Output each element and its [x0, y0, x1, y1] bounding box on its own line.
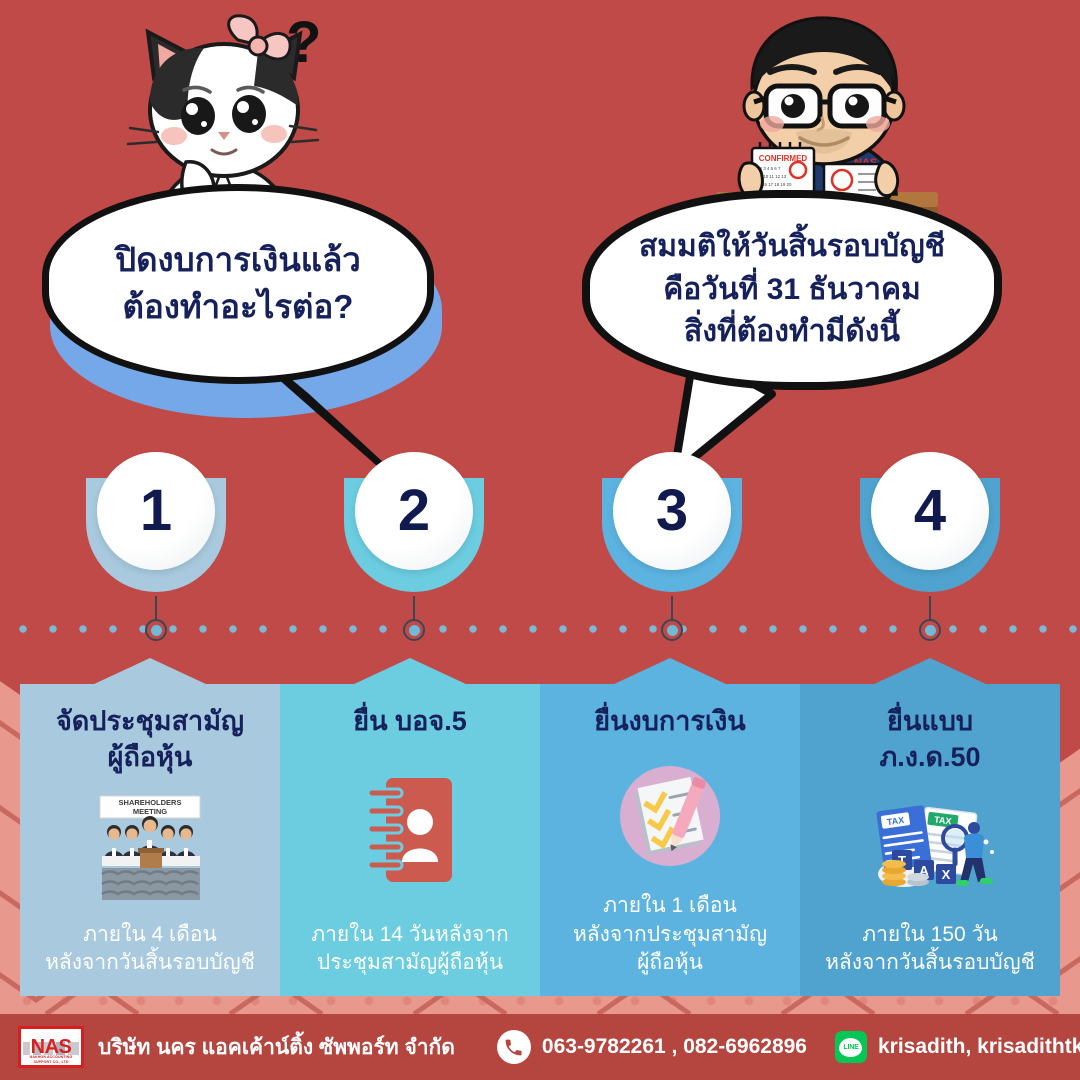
step-3-number: 3 — [656, 482, 688, 540]
shareholder-register-book-icon — [360, 774, 460, 886]
svg-text:MEETING: MEETING — [133, 807, 167, 816]
step-card-4-peak — [872, 658, 988, 685]
line-icon-label: LINE — [843, 1044, 858, 1051]
step-card-3-note: ภายใน 1 เดือน หลังจากประชุมสามัญ ผู้ถือห… — [573, 892, 767, 978]
step-4-number: 4 — [914, 482, 946, 540]
step-card-2-peak — [352, 658, 468, 685]
step-card-1-title: จัดประชุมสามัญ ผู้ถือหุ้น — [56, 704, 244, 775]
step-card-2-note: ภายใน 14 วันหลังจาก ประชุมสามัญผู้ถือหุ้… — [311, 921, 509, 978]
step-card-4-note-line1: ภายใน 150 วัน — [862, 923, 997, 946]
step-card-1[interactable]: จัดประชุมสามัญ ผู้ถือหุ้น SHAREHOLDERS M… — [20, 684, 280, 996]
timeline-node-2[interactable] — [403, 619, 425, 641]
timeline-node-3-dot — [667, 625, 678, 636]
bubble-left-line1: ปิดงบการเงินแล้ว — [115, 237, 361, 284]
step-4-ball: 4 — [871, 452, 989, 570]
step-card-2-note-line2: ประชุมสามัญผู้ถือหุ้น — [317, 951, 503, 974]
step-card-3-peak — [612, 658, 728, 685]
speech-bubble-right-body: สมมติให้วันสิ้นรอบบัญชี คือวันที่ 31 ธัน… — [582, 190, 1002, 390]
step-1-number: 1 — [140, 482, 172, 540]
step-card-4-title-line2: ภ.ง.ด.50 — [879, 742, 980, 772]
footer-contact-bar: NAS NAKHON ACCOUNTING SUPPORT CO., LTD บ… — [0, 1014, 1080, 1080]
checklist-clipboard-pencil-icon — [618, 764, 722, 868]
timeline-node-3[interactable] — [661, 619, 683, 641]
step-card-3-title-line1: ยื่นงบการเงิน — [594, 706, 745, 736]
line-icon: LINE — [835, 1031, 867, 1063]
step-card-3-note-line1: ภายใน 1 เดือน — [603, 894, 737, 917]
step-card-1-note-line1: ภายใน 4 เดือน — [83, 923, 217, 946]
nas-logo-word: NAS — [31, 1037, 72, 1057]
phone-icon — [497, 1030, 531, 1064]
step-card-1-title-line2: ผู้ถือหุ้น — [108, 742, 193, 772]
svg-text:SHAREHOLDERS: SHAREHOLDERS — [119, 798, 182, 807]
timeline-node-1-dot — [151, 625, 162, 636]
phone-number[interactable]: 063-9782261 , 082-6962896 — [542, 1035, 807, 1059]
step-card-1-title-line1: จัดประชุมสามัญ — [56, 706, 244, 736]
step-card-4-title-line1: ยื่นแบบ — [887, 706, 973, 736]
step-card-1-note: ภายใน 4 เดือน หลังจากวันสิ้นรอบบัญชี — [45, 921, 255, 978]
shareholders-meeting-icon: SHAREHOLDERS MEETING — [84, 794, 216, 902]
infographic-poster: ? NAS — [0, 0, 1080, 1080]
speech-bubble-left-body: ปิดงบการเงินแล้ว ต้องทำอะไรต่อ? — [42, 184, 434, 384]
nas-logo: NAS NAKHON ACCOUNTING SUPPORT CO., LTD — [18, 1026, 84, 1068]
nas-logo-subtitle: NAKHON ACCOUNTING SUPPORT CO., LTD — [21, 1055, 81, 1065]
step-card-1-icon-wrap: SHAREHOLDERS MEETING — [28, 775, 272, 921]
step-card-2-title-line1: ยื่น บอจ.5 — [353, 706, 466, 736]
timeline-node-1[interactable] — [145, 619, 167, 641]
step-card-4-title: ยื่นแบบ ภ.ง.ด.50 — [879, 704, 980, 775]
step-card-2-icon-wrap — [288, 740, 532, 921]
step-card-4-note: ภายใน 150 วัน หลังจากวันสิ้นรอบบัญชี — [825, 921, 1035, 978]
step-card-1-note-line2: หลังจากวันสิ้นรอบบัญชี — [45, 951, 255, 974]
speech-bubble-right: สมมติให้วันสิ้นรอบบัญชี คือวันที่ 31 ธัน… — [582, 190, 1002, 390]
timeline-node-2-dot — [409, 625, 420, 636]
timeline-track — [0, 620, 1080, 638]
step-card-3-note-line2: หลังจากประชุมสามัญ — [573, 923, 767, 946]
bubble-right-line2: คือวันที่ 31 ธันวาคม — [663, 269, 921, 312]
company-name: บริษัท นคร แอคเค้าน์ติ้ง ซัพพอร์ท จำกัด — [98, 1031, 455, 1064]
tax-forms-icon: TAX TAX — [860, 802, 1000, 894]
step-card-3[interactable]: ยื่นงบการเงิน — [540, 684, 800, 996]
step-card-2[interactable]: ยื่น บอจ.5 ภายใน 14 วันหลั — [280, 684, 540, 996]
step-card-3-title: ยื่นงบการเงิน — [594, 704, 745, 740]
step-card-4-icon-wrap: TAX TAX — [808, 775, 1052, 921]
step-cards-row: จัดประชุมสามัญ ผู้ถือหุ้น SHAREHOLDERS M… — [20, 684, 1060, 996]
speech-bubble-left: ปิดงบการเงินแล้ว ต้องทำอะไรต่อ? — [42, 184, 434, 384]
step-card-4-note-line2: หลังจากวันสิ้นรอบบัญชี — [825, 951, 1035, 974]
timeline-node-4-dot — [925, 625, 936, 636]
step-card-3-icon-wrap — [548, 740, 792, 893]
line-ids[interactable]: krisadith, krisadithtk — [878, 1035, 1080, 1059]
step-number-1[interactable]: 1 — [86, 452, 226, 592]
step-3-ball: 3 — [613, 452, 731, 570]
bubble-left-line2: ต้องทำอะไรต่อ? — [123, 284, 354, 331]
step-card-2-note-line1: ภายใน 14 วันหลังจาก — [311, 923, 509, 946]
step-2-number: 2 — [398, 482, 430, 540]
line-icon-bubble: LINE — [839, 1038, 862, 1057]
step-card-4[interactable]: ยื่นแบบ ภ.ง.ด.50 TAX — [800, 684, 1060, 996]
step-number-3[interactable]: 3 — [602, 452, 742, 592]
step-card-1-peak — [92, 658, 208, 685]
timeline-node-4[interactable] — [919, 619, 941, 641]
bubble-right-line1: สมมติให้วันสิ้นรอบบัญชี — [639, 226, 945, 269]
svg-text:TAX: TAX — [934, 815, 952, 827]
step-number-2[interactable]: 2 — [344, 452, 484, 592]
step-card-2-title: ยื่น บอจ.5 — [353, 704, 466, 740]
step-2-ball: 2 — [355, 452, 473, 570]
svg-text:X: X — [942, 867, 951, 882]
step-number-4[interactable]: 4 — [860, 452, 1000, 592]
bubble-right-line3: สิ่งที่ต้องทำมีดังนี้ — [684, 311, 900, 354]
step-1-ball: 1 — [97, 452, 215, 570]
step-card-3-note-line3: ผู้ถือหุ้น — [637, 951, 703, 974]
